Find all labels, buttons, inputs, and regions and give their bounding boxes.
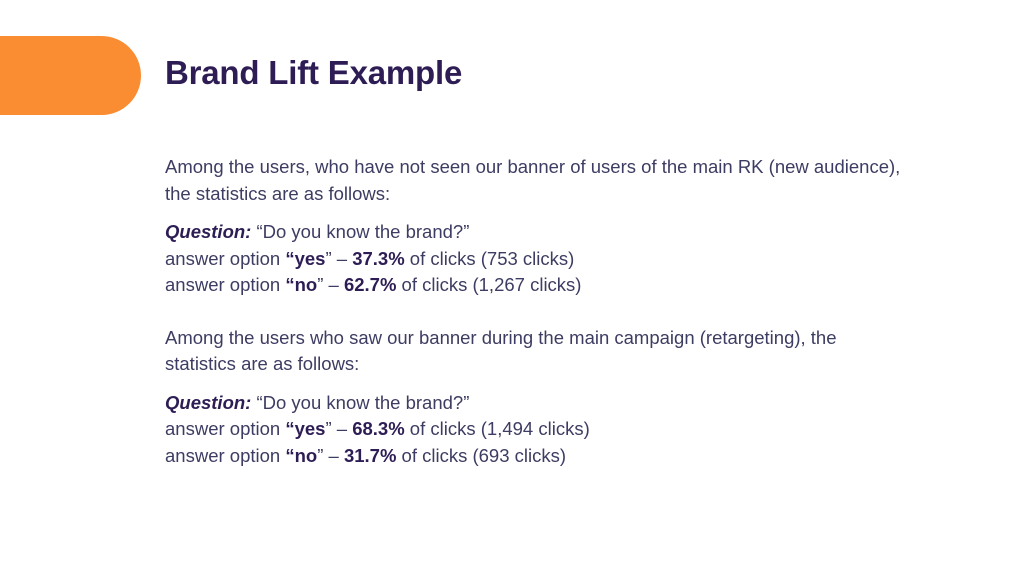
stats-section: Among the users who saw our banner durin… <box>165 325 925 470</box>
answer-line: answer option “yes” – 37.3% of clicks (7… <box>165 246 925 273</box>
answer-option: yes <box>295 248 326 269</box>
question-answer-block: Question: “Do you know the brand?” answe… <box>165 219 925 299</box>
question-label: Question: <box>165 221 251 242</box>
answer-middle: of clicks <box>396 445 472 466</box>
answer-option: no <box>295 445 318 466</box>
answer-percent: 62.7% <box>344 274 396 295</box>
question-text: “Do you know the brand?” <box>256 221 469 242</box>
answer-option-open-quote: “ <box>285 445 294 466</box>
answer-prefix: answer option <box>165 274 285 295</box>
spacer <box>165 207 925 219</box>
answer-middle: of clicks <box>405 248 481 269</box>
answer-percent: 68.3% <box>352 418 404 439</box>
answer-prefix: answer option <box>165 445 285 466</box>
answer-dash: – <box>332 248 353 269</box>
question-line: Question: “Do you know the brand?” <box>165 219 925 246</box>
answer-line: answer option “no” – 31.7% of clicks (69… <box>165 443 925 470</box>
answer-dash: – <box>323 445 344 466</box>
answer-option: yes <box>295 418 326 439</box>
question-text: “Do you know the brand?” <box>256 392 469 413</box>
answer-dash: – <box>323 274 344 295</box>
answer-line: answer option “no” – 62.7% of clicks (1,… <box>165 272 925 299</box>
answer-option-open-quote: “ <box>285 274 294 295</box>
spacer <box>165 378 925 390</box>
section-intro-text: Among the users, who have not seen our b… <box>165 154 910 207</box>
answer-option: no <box>295 274 318 295</box>
stats-section: Among the users, who have not seen our b… <box>165 154 925 299</box>
answer-line: answer option “yes” – 68.3% of clicks (1… <box>165 416 925 443</box>
page-title: Brand Lift Example <box>165 53 462 93</box>
answer-clicks: (1,494 clicks) <box>481 418 590 439</box>
answer-clicks: (1,267 clicks) <box>472 274 581 295</box>
question-line: Question: “Do you know the brand?” <box>165 390 925 417</box>
answer-prefix: answer option <box>165 248 285 269</box>
answer-dash: – <box>332 418 353 439</box>
answer-option-open-quote: “ <box>285 418 294 439</box>
answer-option-open-quote: “ <box>285 248 294 269</box>
spacer <box>165 299 925 325</box>
question-answer-block: Question: “Do you know the brand?” answe… <box>165 390 925 470</box>
answer-middle: of clicks <box>405 418 481 439</box>
answer-clicks: (693 clicks) <box>472 445 566 466</box>
answer-clicks: (753 clicks) <box>481 248 575 269</box>
question-label: Question: <box>165 392 251 413</box>
answer-percent: 31.7% <box>344 445 396 466</box>
slide: Brand Lift Example Among the users, who … <box>0 0 1024 576</box>
answer-middle: of clicks <box>396 274 472 295</box>
section-intro-text: Among the users who saw our banner durin… <box>165 325 910 378</box>
slide-body: Among the users, who have not seen our b… <box>165 154 925 469</box>
answer-prefix: answer option <box>165 418 285 439</box>
answer-percent: 37.3% <box>352 248 404 269</box>
orange-accent-shape <box>0 36 141 115</box>
